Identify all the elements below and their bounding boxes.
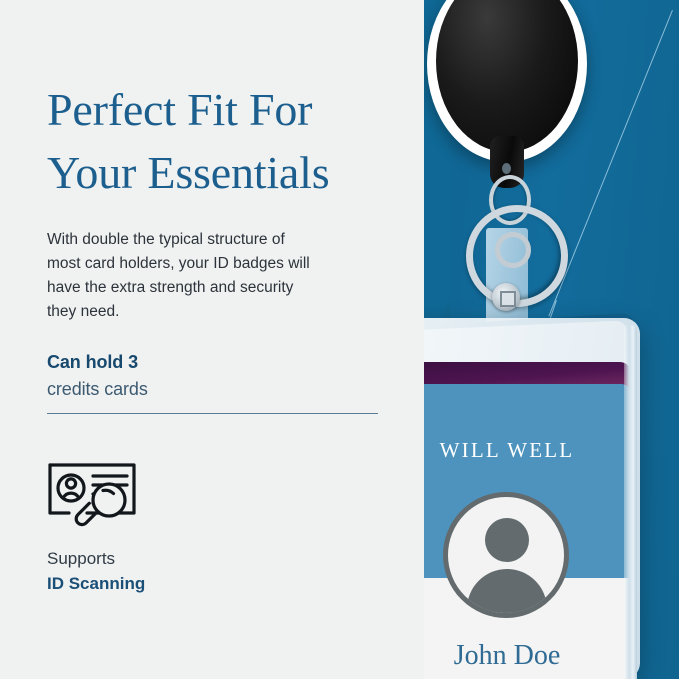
text-column: Perfect Fit For Your Essentials With dou… <box>0 0 424 679</box>
holder-right-edge <box>624 325 637 679</box>
product-feature-image: E 8 WILL WELL John Doe Perfect Fit For Y… <box>0 0 679 679</box>
scanning-feature: Supports ID Scanning <box>47 462 307 594</box>
capacity-label: credits cards <box>47 379 378 400</box>
strap-snap-core <box>500 291 516 307</box>
strap-grommet <box>495 232 531 268</box>
capacity-value: Can hold 3 <box>47 352 378 373</box>
capacity-spec: Can hold 3 credits cards <box>47 352 378 414</box>
reel-stem-hole <box>502 163 511 174</box>
feature-label: ID Scanning <box>47 574 307 594</box>
person-avatar-icon <box>443 492 569 618</box>
divider <box>47 413 378 414</box>
feature-sublabel: Supports <box>47 549 307 569</box>
body-paragraph: With double the typical structure of mos… <box>47 228 322 324</box>
avatar-body <box>467 569 547 618</box>
avatar-head <box>485 518 529 562</box>
page-title: Perfect Fit For Your Essentials <box>47 78 387 205</box>
headline-line-1: Perfect Fit For <box>47 78 387 141</box>
headline-line-2: Your Essentials <box>47 141 387 204</box>
id-card-scan-icon <box>47 462 307 533</box>
